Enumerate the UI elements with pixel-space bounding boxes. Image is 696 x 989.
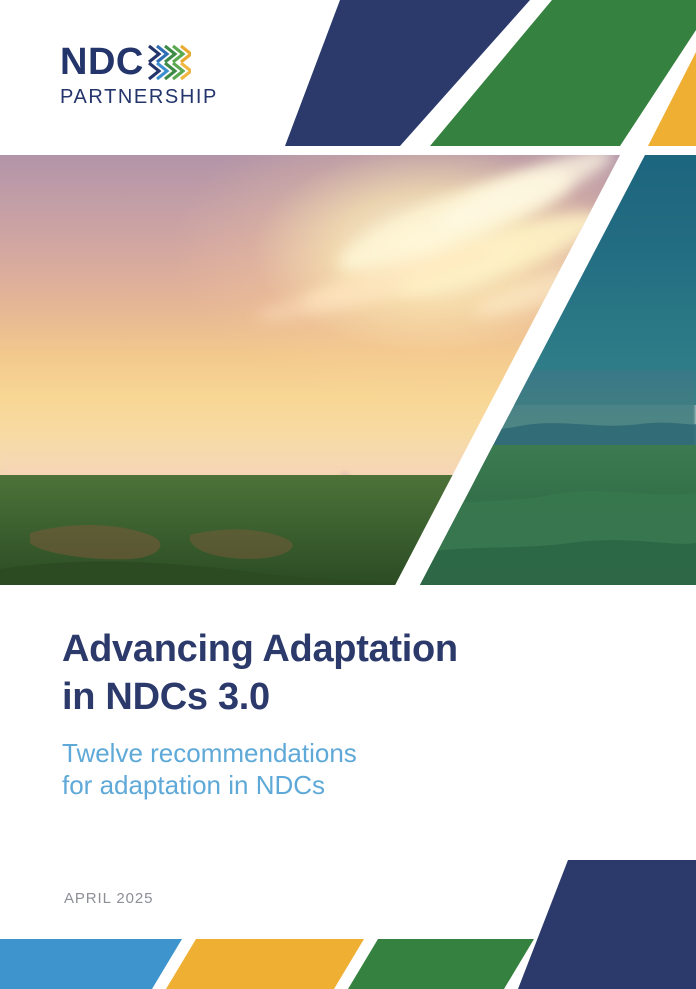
- logo-wordmark-partnership: PARTNERSHIP: [60, 86, 280, 109]
- logo-wordmark-row: NDC: [60, 42, 280, 82]
- title-line-2: in NDCs 3.0: [62, 676, 270, 718]
- subtitle-line-1: Twelve recommendations: [62, 738, 357, 768]
- header-band: NDC PARTNERSHIP: [0, 0, 696, 155]
- title-block: Advancing Adaptation in NDCs 3.0 Twelve …: [62, 625, 622, 801]
- subtitle-line-2: for adaptation in NDCs: [62, 770, 325, 800]
- ndc-partnership-logo[interactable]: NDC PARTNERSHIP: [60, 42, 280, 122]
- page-title: Advancing Adaptation in NDCs 3.0: [62, 625, 622, 721]
- report-cover-page: NDC PARTNERSHIP: [0, 0, 696, 989]
- navy-wedge-shape: [518, 860, 696, 989]
- title-line-1: Advancing Adaptation: [62, 628, 458, 670]
- footer-decorative-shapes: [0, 860, 696, 989]
- yellow-bar-shape: [166, 939, 364, 989]
- logo-wordmark-ndc: NDC: [60, 42, 144, 82]
- cover-photo: [0, 155, 696, 585]
- green-bar-shape: [348, 939, 534, 989]
- blue-bar-shape: [0, 939, 182, 989]
- chevrons-icon: [147, 43, 191, 81]
- page-subtitle: Twelve recommendations for adaptation in…: [62, 737, 622, 801]
